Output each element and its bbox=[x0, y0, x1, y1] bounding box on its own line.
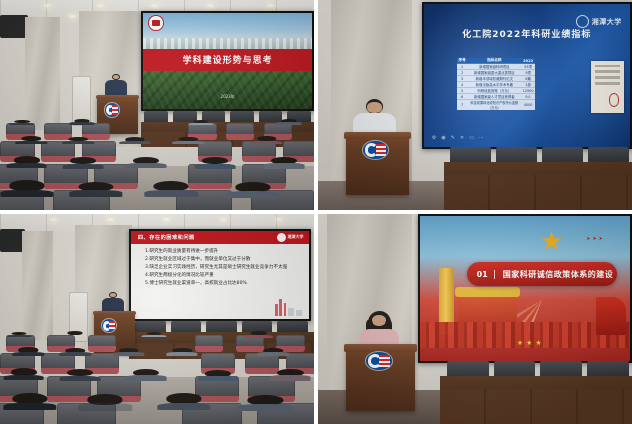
podium bbox=[346, 344, 415, 411]
certificate-image bbox=[591, 61, 624, 112]
wall-pillar bbox=[25, 17, 60, 130]
university-logo-icon bbox=[366, 352, 392, 369]
slide-header-band: 四、存在的困难和问题 湘潭大学 bbox=[131, 231, 309, 244]
presentation-screen: 四、存在的困难和问题 湘潭大学 1.研究生的就业质量有待进一步提升 2.研究生就… bbox=[129, 229, 311, 321]
rect-icon[interactable]: ▭ bbox=[469, 135, 474, 141]
slide-title-text: 学科建设形势与思考 bbox=[143, 49, 312, 70]
slide-research-indicators: 湘潭大学 化工院2022年科研业绩指标 序号 指标名称 2022 1新增国家级科… bbox=[424, 4, 630, 147]
photo-collage: 学科建设形势与思考 2023年 bbox=[0, 0, 632, 424]
slide-campus-photo bbox=[143, 71, 312, 110]
cursor-icon[interactable]: ✕ bbox=[460, 135, 464, 141]
panel-top-left: 学科建设形势与思考 2023年 bbox=[0, 0, 314, 210]
red-flag-icon bbox=[596, 297, 625, 335]
university-name: 湘潭大学 bbox=[592, 17, 622, 27]
university-logo-icon bbox=[363, 141, 388, 159]
slide-problems: 四、存在的困难和问题 湘潭大学 1.研究生的就业质量有待进一步提升 2.研究生就… bbox=[131, 231, 309, 319]
panel-bottom-right: ★ ➤➤➤ ★★★ 01 国家科研诚信政策体系的建设 bbox=[318, 214, 632, 424]
list-item: 3.缺乏企业实习实践经历，研究生尤其是硕士研究生就业竞争力不太强 bbox=[145, 264, 298, 270]
slide-title-discipline: 学科建设形势与思考 2023年 bbox=[143, 13, 312, 110]
wall-speaker-icon bbox=[0, 15, 28, 38]
gold-stars-icon: ★★★ bbox=[517, 339, 545, 347]
record-icon[interactable]: ◉ bbox=[441, 135, 445, 141]
presentation-screen: 湘潭大学 化工院2022年科研业绩指标 序号 指标名称 2022 1新增国家级科… bbox=[422, 2, 632, 149]
list-item: 1.研究生的就业质量有待进一步提升 bbox=[145, 248, 298, 254]
pen-icon[interactable]: ✎ bbox=[451, 135, 455, 141]
slide-header-text: 四、存在的困难和问题 bbox=[131, 234, 195, 241]
cell-name: 新增国家级人才项目获得者 bbox=[468, 94, 521, 100]
presentation-screen: ★ ➤➤➤ ★★★ 01 国家科研诚信政策体系的建设 bbox=[418, 214, 632, 363]
audience-area bbox=[0, 118, 314, 210]
list-item: 5.博士研究生就业渠道单一，高校就业占比达80% bbox=[145, 280, 298, 286]
more-icon[interactable]: ⋯ bbox=[479, 135, 484, 141]
cell-name: 科技成果转化或知识产权作价金额（万元） bbox=[468, 100, 521, 111]
university-logo: 湘潭大学 bbox=[277, 233, 304, 241]
hammer-sickle-icon: ★ bbox=[540, 229, 565, 258]
slide-section-divider: ★ ➤➤➤ ★★★ 01 国家科研诚信政策体系的建设 bbox=[420, 216, 630, 361]
cell-no: 7 bbox=[457, 100, 468, 111]
list-item: 2.研究生就业区域过于集中，而就业单位又过于分散 bbox=[145, 256, 298, 262]
section-title-pill: 01 国家科研诚信政策体系的建设 bbox=[467, 262, 618, 285]
slide-year-text: 2023年 bbox=[143, 94, 312, 100]
stage-desk bbox=[444, 162, 632, 210]
section-number: 01 bbox=[467, 270, 495, 279]
indicator-table: 序号 指标名称 2022 1新增国家级科研项目55项 2新增国家级重大重点类项目… bbox=[457, 58, 536, 110]
panel-bottom-left: 四、存在的困难和问题 湘潭大学 1.研究生的就业质量有待进一步提升 2.研究生就… bbox=[0, 214, 314, 424]
university-name: 湘潭大学 bbox=[288, 234, 304, 240]
list-item: 4.研究生两极分化的情况比较严重 bbox=[145, 272, 298, 278]
stage-desk bbox=[440, 376, 632, 424]
podium bbox=[346, 132, 409, 195]
panel-top-right: 湘潭大学 化工院2022年科研业绩指标 序号 指标名称 2022 1新增国家级科… bbox=[318, 0, 632, 210]
presentation-screen: 学科建设形势与思考 2023年 bbox=[141, 11, 314, 112]
dove-icons: ➤➤➤ bbox=[586, 236, 605, 242]
logo-ring-icon bbox=[277, 233, 286, 242]
university-emblem-icon bbox=[148, 15, 163, 30]
seal-icon bbox=[609, 93, 620, 106]
slide-title-band: 学科建设形势与思考 bbox=[143, 49, 312, 70]
university-logo-icon bbox=[105, 103, 120, 117]
wall-pillar bbox=[22, 231, 53, 340]
table-row: 7科技成果转化或知识产权作价金额（万元）4000 bbox=[457, 100, 536, 111]
slide-bullet-list: 1.研究生的就业质量有待进一步提升 2.研究生就业区域过于集中，而就业单位又过于… bbox=[145, 248, 298, 288]
cell-value: 4000 bbox=[521, 100, 535, 111]
slide-title-text: 化工院2022年科研业绩指标 bbox=[424, 27, 630, 40]
cell-name: 新增国家级重大重点类项目 bbox=[468, 70, 521, 76]
audience-area bbox=[0, 330, 314, 424]
downlight-icon bbox=[69, 15, 76, 18]
chemical-plant-icon bbox=[273, 297, 303, 316]
section-title-text: 国家科研诚信政策体系的建设 bbox=[495, 269, 614, 280]
slide-toolbar: ⚙ ◉ ✎ ✕ ▭ ⋯ bbox=[432, 135, 484, 141]
gear-icon[interactable]: ⚙ bbox=[432, 135, 436, 141]
